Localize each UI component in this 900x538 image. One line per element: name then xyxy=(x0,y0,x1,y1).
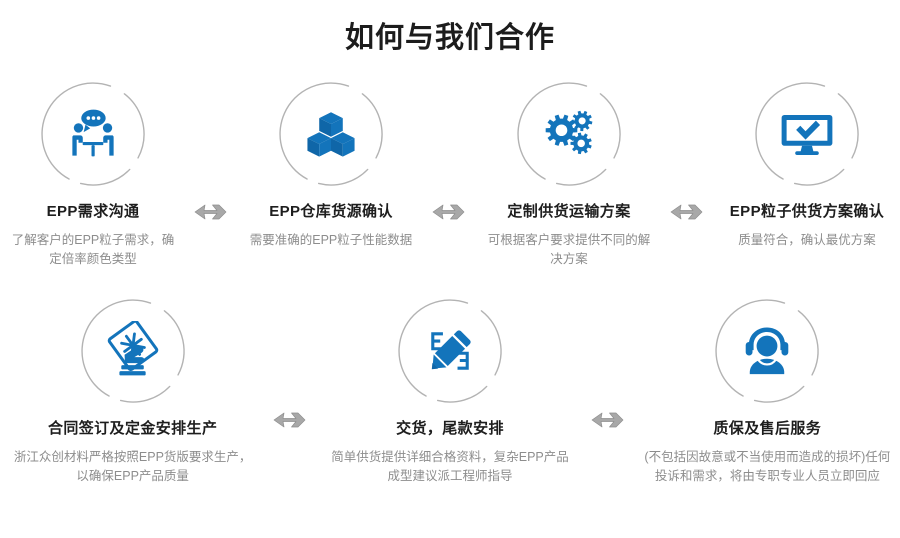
arrow-separator xyxy=(186,74,238,223)
arrow-separator xyxy=(662,74,714,223)
process-row-2: 合同签订及定金安排生产浙江众创材料严格按照EPP货版要求生产，以确保EPP产品质… xyxy=(0,269,900,486)
process-step[interactable]: EPP仓库货源确认需要准确的EPP粒子性能数据 xyxy=(238,74,424,250)
process-step[interactable]: 质保及售后服务(不包括因故意或不当使用而造成的损坏)任何投诉和需求，将由专职专业… xyxy=(635,291,900,486)
step-ring xyxy=(390,291,510,411)
step-description: 需要准确的EPP粒子性能数据 xyxy=(242,231,421,250)
step-ring xyxy=(509,74,629,194)
process-step[interactable]: 交货，尾款安排简单供货提供详细合格资料，复杂EPP产品成型建议派工程师指导 xyxy=(317,291,582,486)
step-ring xyxy=(73,291,193,411)
double-chevron-arrow-right-icon xyxy=(272,409,310,431)
step-title: 质保及售后服务 xyxy=(713,419,821,439)
step-ring xyxy=(271,74,391,194)
process-step[interactable]: EPP需求沟通了解客户的EPP粒子需求，确定倍率颜色类型 xyxy=(0,74,186,269)
step-description: 质量符合，确认最优方案 xyxy=(730,231,884,250)
arrow-separator xyxy=(265,291,317,431)
headset-support-icon xyxy=(736,320,798,382)
monitor-check-icon xyxy=(776,103,838,165)
process-step[interactable]: EPP粒子供货方案确认质量符合，确认最优方案 xyxy=(714,74,900,250)
process-step[interactable]: 合同签订及定金安排生产浙江众创材料严格按照EPP货版要求生产，以确保EPP产品质… xyxy=(0,291,265,486)
arrow-separator xyxy=(424,74,476,223)
step-title: EPP仓库货源确认 xyxy=(269,202,393,222)
stacked-boxes-icon xyxy=(300,103,362,165)
process-step[interactable]: 定制供货运输方案可根据客户要求提供不同的解决方案 xyxy=(476,74,662,269)
contract-stamp-icon xyxy=(102,320,164,382)
step-description: (不包括因故意或不当使用而造成的损坏)任何投诉和需求，将由专职专业人员立即回应 xyxy=(635,448,900,486)
step-description: 浙江众创材料严格按照EPP货版要求生产，以确保EPP产品质量 xyxy=(0,448,265,486)
page-title: 如何与我们合作 xyxy=(0,0,900,58)
step-title: 定制供货运输方案 xyxy=(507,202,630,222)
meeting-discussion-icon xyxy=(62,103,124,165)
step-title: 交货，尾款安排 xyxy=(396,419,504,439)
step-description: 可根据客户要求提供不同的解决方案 xyxy=(476,231,662,269)
double-chevron-arrow-right-icon xyxy=(431,201,469,223)
step-title: 合同签订及定金安排生产 xyxy=(48,419,217,439)
pencil-signature-icon xyxy=(419,320,481,382)
double-chevron-arrow-right-icon xyxy=(193,201,231,223)
step-ring xyxy=(33,74,153,194)
gears-icon xyxy=(538,103,600,165)
step-description: 简单供货提供详细合格资料，复杂EPP产品成型建议派工程师指导 xyxy=(317,448,582,486)
arrow-separator xyxy=(583,291,635,431)
step-ring xyxy=(707,291,827,411)
double-chevron-arrow-right-icon xyxy=(590,409,628,431)
step-title: EPP粒子供货方案确认 xyxy=(730,202,884,222)
double-chevron-arrow-right-icon xyxy=(669,201,707,223)
process-row-1: EPP需求沟通了解客户的EPP粒子需求，确定倍率颜色类型 xyxy=(0,58,900,269)
step-description: 了解客户的EPP粒子需求，确定倍率颜色类型 xyxy=(0,231,186,269)
step-title: EPP需求沟通 xyxy=(47,202,140,222)
step-ring xyxy=(747,74,867,194)
